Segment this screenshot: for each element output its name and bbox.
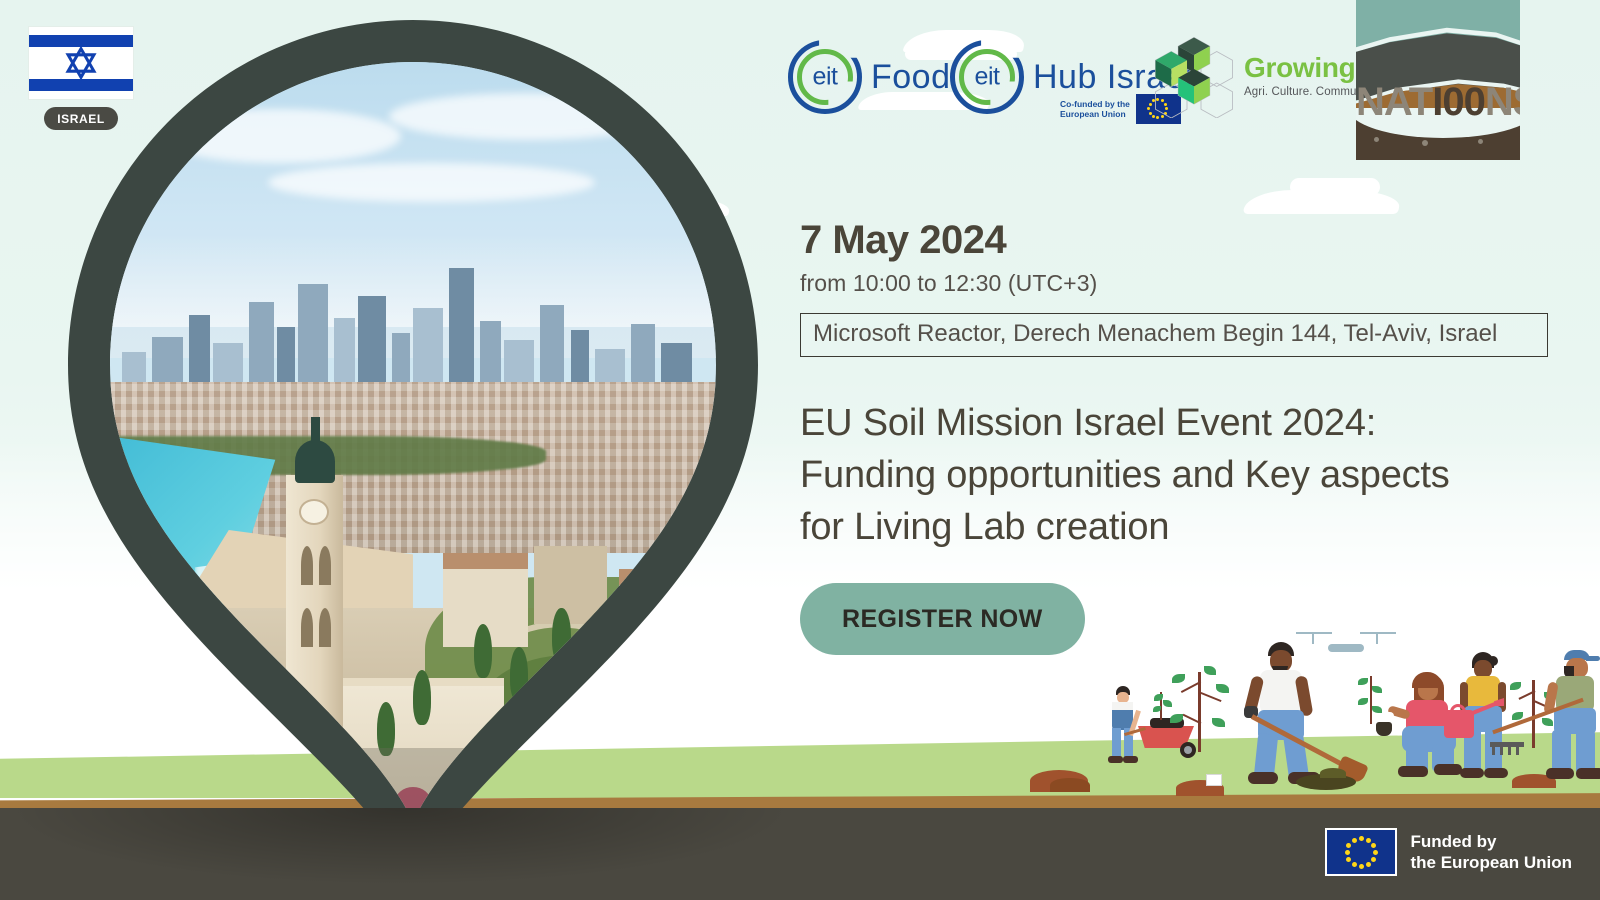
eu-funding-text: Funded by the European Union (1411, 831, 1573, 874)
country-label: ISRAEL (44, 107, 118, 130)
event-date: 7 May 2024 (800, 218, 1560, 262)
cofunded-text: Co-funded by the European Union (1060, 99, 1130, 120)
event-details: 7 May 2024 from 10:00 to 12:30 (UTC+3) M… (800, 218, 1560, 655)
natioons-logo[interactable]: NATI00NS (1356, 0, 1520, 160)
gardeners-illustration (1020, 614, 1600, 804)
event-time: from 10:00 to 12:30 (UTC+3) (800, 270, 1560, 297)
cloud-icon (60, 655, 170, 669)
poster-canvas: ISRAEL eit Food eit Hub Israel Co-funded… (0, 0, 1600, 900)
watering-can-icon (1444, 710, 1474, 738)
eit-mark-text: eit (813, 63, 838, 92)
cloud-icon (1290, 178, 1380, 196)
location-pin (68, 20, 758, 880)
growing-il-logo[interactable]: GrowingIL Agri. Culture. Community (1150, 34, 1380, 118)
event-venue: Microsoft Reactor, Derech Menachem Begin… (800, 313, 1548, 357)
tel-aviv-photo (110, 62, 716, 842)
eit-circle-icon: eit (788, 40, 862, 114)
drone-icon (1296, 632, 1332, 634)
pin-photo-mask (110, 62, 716, 842)
eu-flag-icon (1325, 828, 1397, 876)
eu-funding-badge: Funded by the European Union (1325, 828, 1573, 876)
hexagon-cubes-icon (1150, 34, 1238, 118)
natioons-wordmark: NATI00NS (1356, 82, 1520, 122)
eit-food-label: Food (871, 58, 951, 97)
eit-mark-text: eit (975, 63, 1000, 92)
cloud-icon (1100, 640, 1250, 658)
eit-circle-icon: eit (950, 40, 1024, 114)
event-title: EU Soil Mission Israel Event 2024: Fundi… (800, 397, 1480, 553)
israel-flag-icon (28, 26, 134, 100)
eit-food-logo[interactable]: eit Food (788, 40, 951, 114)
star-of-david-icon (64, 46, 98, 80)
country-badge: ISRAEL (28, 26, 134, 130)
